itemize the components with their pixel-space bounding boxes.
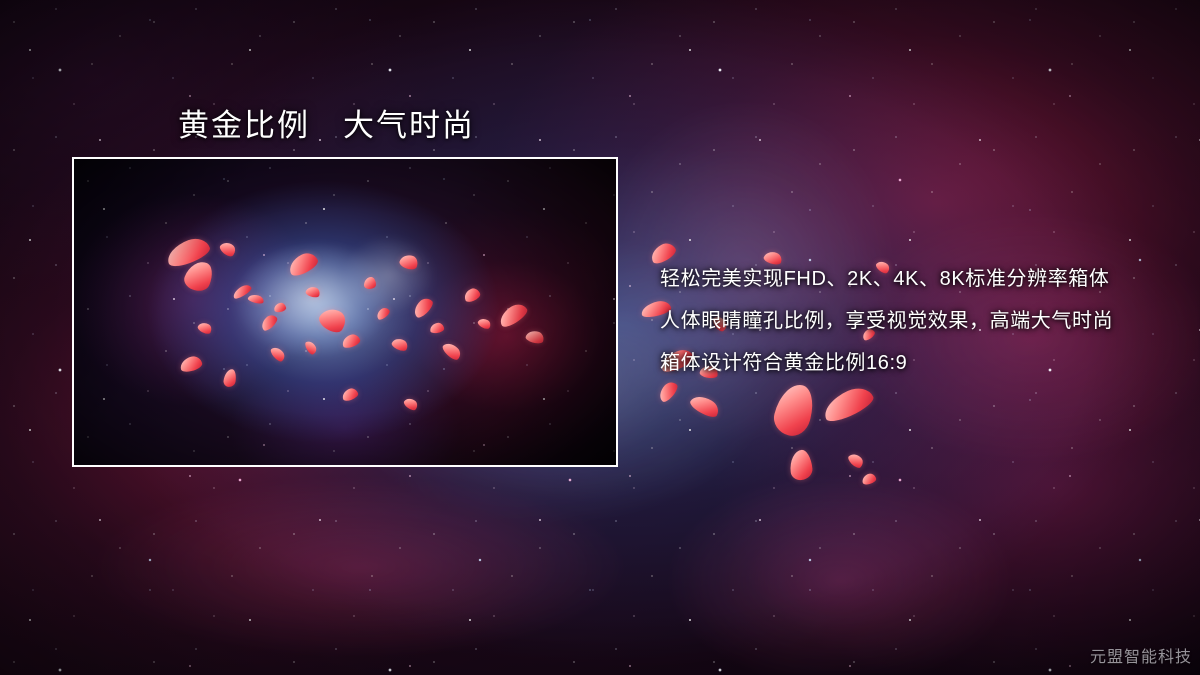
petal-decoration bbox=[846, 451, 865, 470]
body-text-block: 轻松完美实现FHD、2K、4K、8K标准分辨率箱体 人体眼睛瞳孔比例，享受视觉效… bbox=[660, 258, 1180, 384]
slide-canvas: 黄金比例 大气时尚 bbox=[0, 0, 1200, 675]
petal-decoration bbox=[819, 382, 876, 425]
framed-image-content bbox=[74, 159, 616, 465]
watermark: 元盟智能科技 bbox=[1090, 643, 1192, 667]
petal-decoration bbox=[770, 380, 818, 439]
body-line-3: 箱体设计符合黄金比例16:9 bbox=[660, 342, 1180, 384]
body-line-2: 人体眼睛瞳孔比例，享受视觉效果，高端大气时尚 bbox=[660, 300, 1180, 342]
framed-image bbox=[72, 157, 618, 467]
inner-vignette bbox=[74, 159, 616, 465]
petal-decoration bbox=[688, 392, 722, 421]
body-line-1: 轻松完美实现FHD、2K、4K、8K标准分辨率箱体 bbox=[660, 258, 1180, 300]
petal-decoration bbox=[788, 449, 813, 481]
page-title: 黄金比例 大气时尚 bbox=[178, 100, 475, 145]
petal-decoration bbox=[861, 472, 877, 485]
